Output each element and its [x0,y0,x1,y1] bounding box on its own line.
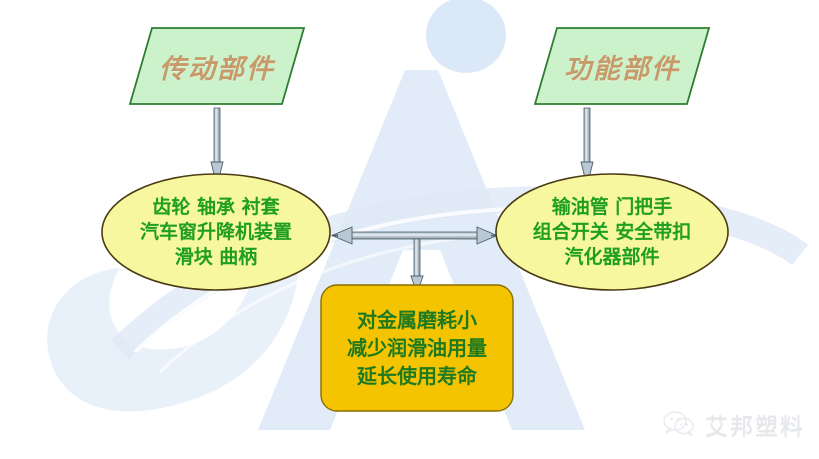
category-node-left-label: 传动部件 [126,24,308,108]
parts-left-line-1: 齿轮 轴承 衬套 [152,195,279,220]
benefits-node[interactable]: 对金属磨耗小 减少润滑油用量 延长使用寿命 [319,283,515,413]
benefits-line-1: 对金属磨耗小 [357,306,477,334]
category-node-left[interactable]: 传动部件 [126,24,308,108]
parts-node-right-text: 输油管 门把手 组合开关 安全带扣 汽化器部件 [494,172,730,292]
parts-right-line-2: 组合开关 安全带扣 [533,220,692,245]
parts-right-line-1: 输油管 门把手 [552,195,673,220]
category-node-right[interactable]: 功能部件 [531,24,713,108]
parts-node-right[interactable]: 输油管 门把手 组合开关 安全带扣 汽化器部件 [494,172,730,292]
parts-node-left-text: 齿轮 轴承 衬套 汽车窗升降机装置 滑块 曲柄 [100,172,332,292]
brand-watermark: 艾邦塑料 [662,407,805,441]
benefits-node-text: 对金属磨耗小 减少润滑油用量 延长使用寿命 [319,283,515,413]
parts-left-line-3: 滑块 曲柄 [175,245,258,270]
connector-horizontal-double [332,227,497,244]
parts-node-left[interactable]: 齿轮 轴承 衬套 汽车窗升降机装置 滑块 曲柄 [100,172,332,292]
benefits-line-2: 减少润滑油用量 [347,334,487,362]
benefits-line-3: 延长使用寿命 [357,362,477,390]
slide-canvas: 传动部件 功能部件 齿轮 轴承 衬套 汽车窗升降机装置 滑块 曲柄 输油管 门把… [0,0,819,459]
wechat-icon [662,411,696,437]
parts-right-line-3: 汽化器部件 [564,245,659,270]
category-node-right-label: 功能部件 [531,24,713,108]
brand-watermark-text: 艾邦塑料 [705,407,805,441]
parts-left-line-2: 汽车窗升降机装置 [140,220,292,245]
